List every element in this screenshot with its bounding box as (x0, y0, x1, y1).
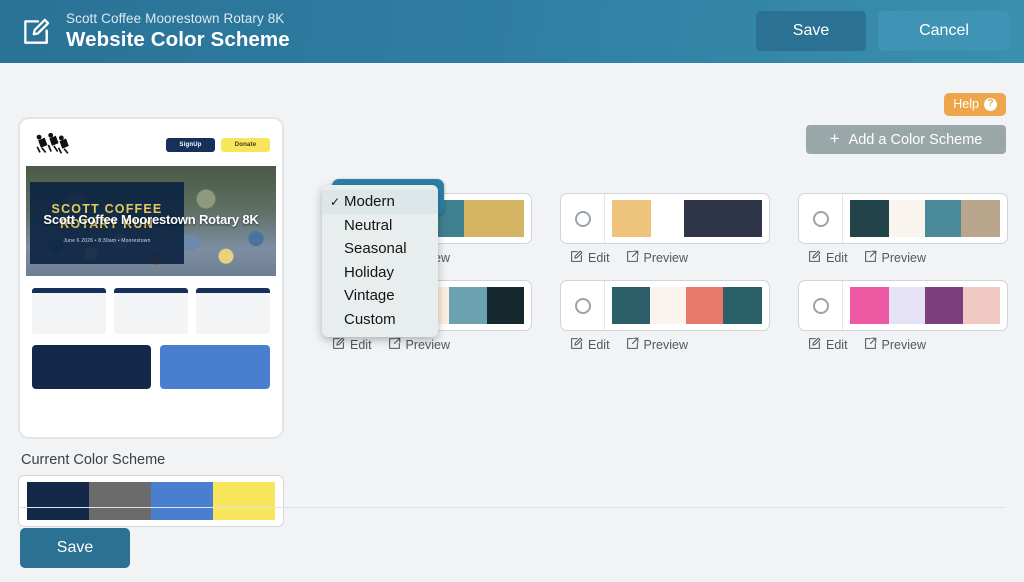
color-scheme-card[interactable] (560, 193, 770, 244)
radio-wrap (799, 298, 842, 314)
color-swatch (449, 287, 487, 324)
external-link-icon (864, 337, 877, 353)
color-swatch (850, 287, 889, 324)
preview-action[interactable]: Preview (626, 250, 688, 266)
color-swatch (612, 287, 650, 324)
edit-action[interactable]: Edit (570, 250, 610, 266)
color-swatch (850, 200, 889, 237)
dropdown-item-neutral[interactable]: Neutral (322, 214, 438, 238)
preview-action[interactable]: Preview (388, 337, 450, 353)
app-header: Scott Coffee Moorestown Rotary 8K Websit… (0, 0, 1024, 63)
card-divider (604, 193, 605, 244)
dropdown-item-label: Vintage (344, 287, 395, 304)
dropdown-item-holiday[interactable]: Holiday (322, 261, 438, 285)
external-link-icon (864, 250, 877, 266)
site-logo-icon (32, 132, 74, 158)
color-scheme-dropdown-menu[interactable]: ✓ModernNeutralSeasonalHolidayVintageCust… (322, 185, 438, 337)
preview-action[interactable]: Preview (864, 250, 926, 266)
dropdown-item-vintage[interactable]: Vintage (322, 284, 438, 308)
color-swatch (925, 287, 963, 324)
color-scheme-radio[interactable] (813, 211, 829, 227)
color-scheme-radio[interactable] (575, 211, 591, 227)
color-swatch (464, 200, 524, 237)
color-scheme-cell: EditPreview (560, 193, 770, 266)
website-preview-card: SignUp Donate SCOTT COFFEE ROTARY RUN Ju… (18, 117, 284, 439)
card-divider (842, 193, 843, 244)
preview-content-card (32, 288, 106, 334)
header-save-button[interactable]: Save (756, 11, 866, 51)
edit-icon (570, 250, 583, 266)
preview-card-row (32, 288, 270, 334)
footer-save-button[interactable]: Save (20, 528, 130, 568)
preview-action-label: Preview (882, 251, 926, 265)
color-swatch (961, 200, 1000, 237)
edit-action-label: Edit (826, 251, 848, 265)
edit-action-label: Edit (826, 338, 848, 352)
preview-topbar: SignUp Donate (26, 125, 276, 165)
radio-wrap (561, 298, 604, 314)
color-scheme-actions: EditPreview (808, 337, 1008, 353)
dropdown-item-label: Seasonal (344, 240, 407, 257)
add-color-scheme-label: Add a Color Scheme (849, 132, 983, 148)
question-mark-icon: ? (984, 98, 997, 111)
color-scheme-card[interactable] (560, 280, 770, 331)
dropdown-item-label: Holiday (344, 264, 394, 281)
dropdown-item-custom[interactable]: Custom (322, 308, 438, 332)
preview-block-navy (32, 345, 151, 389)
external-link-icon (626, 250, 639, 266)
color-scheme-radio[interactable] (575, 298, 591, 314)
check-icon: ✓ (330, 195, 343, 209)
page-title: Website Color Scheme (66, 28, 290, 52)
color-scheme-cell: EditPreview (798, 280, 1008, 353)
preview-nav-buttons: SignUp Donate (166, 138, 270, 152)
color-swatch (889, 287, 925, 324)
preview-action-label: Preview (406, 338, 450, 352)
color-scheme-actions: EditPreview (332, 337, 532, 353)
edit-icon (808, 250, 821, 266)
header-subtitle: Scott Coffee Moorestown Rotary 8K (66, 11, 290, 27)
edit-action-label: Edit (588, 338, 610, 352)
external-link-icon (626, 337, 639, 353)
dropdown-item-seasonal[interactable]: Seasonal (322, 237, 438, 261)
current-scheme-swatch (213, 482, 275, 520)
page-body: Help ? + Add a Color Scheme (0, 63, 1024, 582)
color-scheme-swatches (612, 287, 762, 324)
color-scheme-cell: EditPreview (798, 193, 1008, 266)
preview-hero-line3: June 6 2026 • 8:30am • Moorestown (63, 238, 150, 244)
color-scheme-swatches (850, 287, 1000, 324)
color-swatch (487, 287, 525, 324)
edit-icon (570, 337, 583, 353)
preview-action-label: Preview (644, 251, 688, 265)
color-swatch (963, 287, 1001, 324)
card-divider (604, 280, 605, 331)
add-color-scheme-button[interactable]: + Add a Color Scheme (806, 125, 1006, 154)
help-label: Help (953, 97, 979, 111)
preview-content-card (196, 288, 270, 334)
dropdown-item-label: Modern (344, 193, 395, 210)
color-scheme-card[interactable] (798, 193, 1008, 244)
edit-icon (332, 337, 345, 353)
color-swatch (650, 287, 686, 324)
color-scheme-card[interactable] (798, 280, 1008, 331)
header-actions: Save Cancel (756, 11, 1010, 51)
edit-action[interactable]: Edit (332, 337, 372, 353)
preview-block-blue (160, 345, 270, 389)
preview-action-label: Preview (644, 338, 688, 352)
preview-action[interactable]: Preview (864, 337, 926, 353)
color-scheme-actions: EditPreview (808, 250, 1008, 266)
help-badge[interactable]: Help ? (944, 93, 1006, 116)
color-scheme-swatches (850, 200, 1000, 237)
preview-donate-button: Donate (221, 138, 270, 152)
color-swatch (684, 200, 762, 237)
color-scheme-cell: EditPreview (560, 280, 770, 353)
color-swatch (723, 287, 762, 324)
edit-icon (808, 337, 821, 353)
preview-action[interactable]: Preview (626, 337, 688, 353)
current-color-scheme-swatches (18, 475, 284, 527)
edit-action-label: Edit (350, 338, 372, 352)
preview-overlay-title: Scott Coffee Moorestown Rotary 8K (26, 212, 276, 227)
preview-signup-button: SignUp (166, 138, 215, 152)
color-swatch (651, 200, 684, 237)
color-scheme-swatches (612, 200, 762, 237)
card-divider (842, 280, 843, 331)
preview-hero: SCOTT COFFEE ROTARY RUN June 6 2026 • 8:… (26, 166, 276, 276)
color-scheme-actions: EditPreview (570, 250, 770, 266)
header-titles: Scott Coffee Moorestown Rotary 8K Websit… (66, 11, 290, 52)
external-link-icon (388, 337, 401, 353)
edit-action[interactable]: Edit (808, 337, 848, 353)
current-scheme-swatch (89, 482, 151, 520)
color-scheme-radio[interactable] (813, 298, 829, 314)
preview-content-card (114, 288, 188, 334)
edit-action[interactable]: Edit (808, 250, 848, 266)
color-swatch (925, 200, 961, 237)
color-swatch (686, 287, 724, 324)
current-scheme-swatch (27, 482, 89, 520)
footer-divider (18, 507, 1006, 508)
color-swatch (889, 200, 925, 237)
current-color-scheme-label: Current Color Scheme (21, 452, 165, 468)
radio-wrap (561, 211, 604, 227)
preview-block-row (32, 345, 270, 389)
radio-wrap (799, 211, 842, 227)
edit-pencil-square-icon (18, 14, 54, 50)
header-cancel-button[interactable]: Cancel (878, 11, 1010, 51)
dropdown-item-label: Neutral (344, 217, 392, 234)
preview-action-label: Preview (882, 338, 926, 352)
current-scheme-swatch (151, 482, 213, 520)
edit-action-label: Edit (588, 251, 610, 265)
edit-action[interactable]: Edit (570, 337, 610, 353)
color-scheme-actions: EditPreview (570, 337, 770, 353)
dropdown-item-label: Custom (344, 311, 396, 328)
color-swatch (612, 200, 651, 237)
dropdown-item-modern[interactable]: ✓Modern (322, 190, 438, 214)
plus-icon: + (830, 130, 840, 147)
